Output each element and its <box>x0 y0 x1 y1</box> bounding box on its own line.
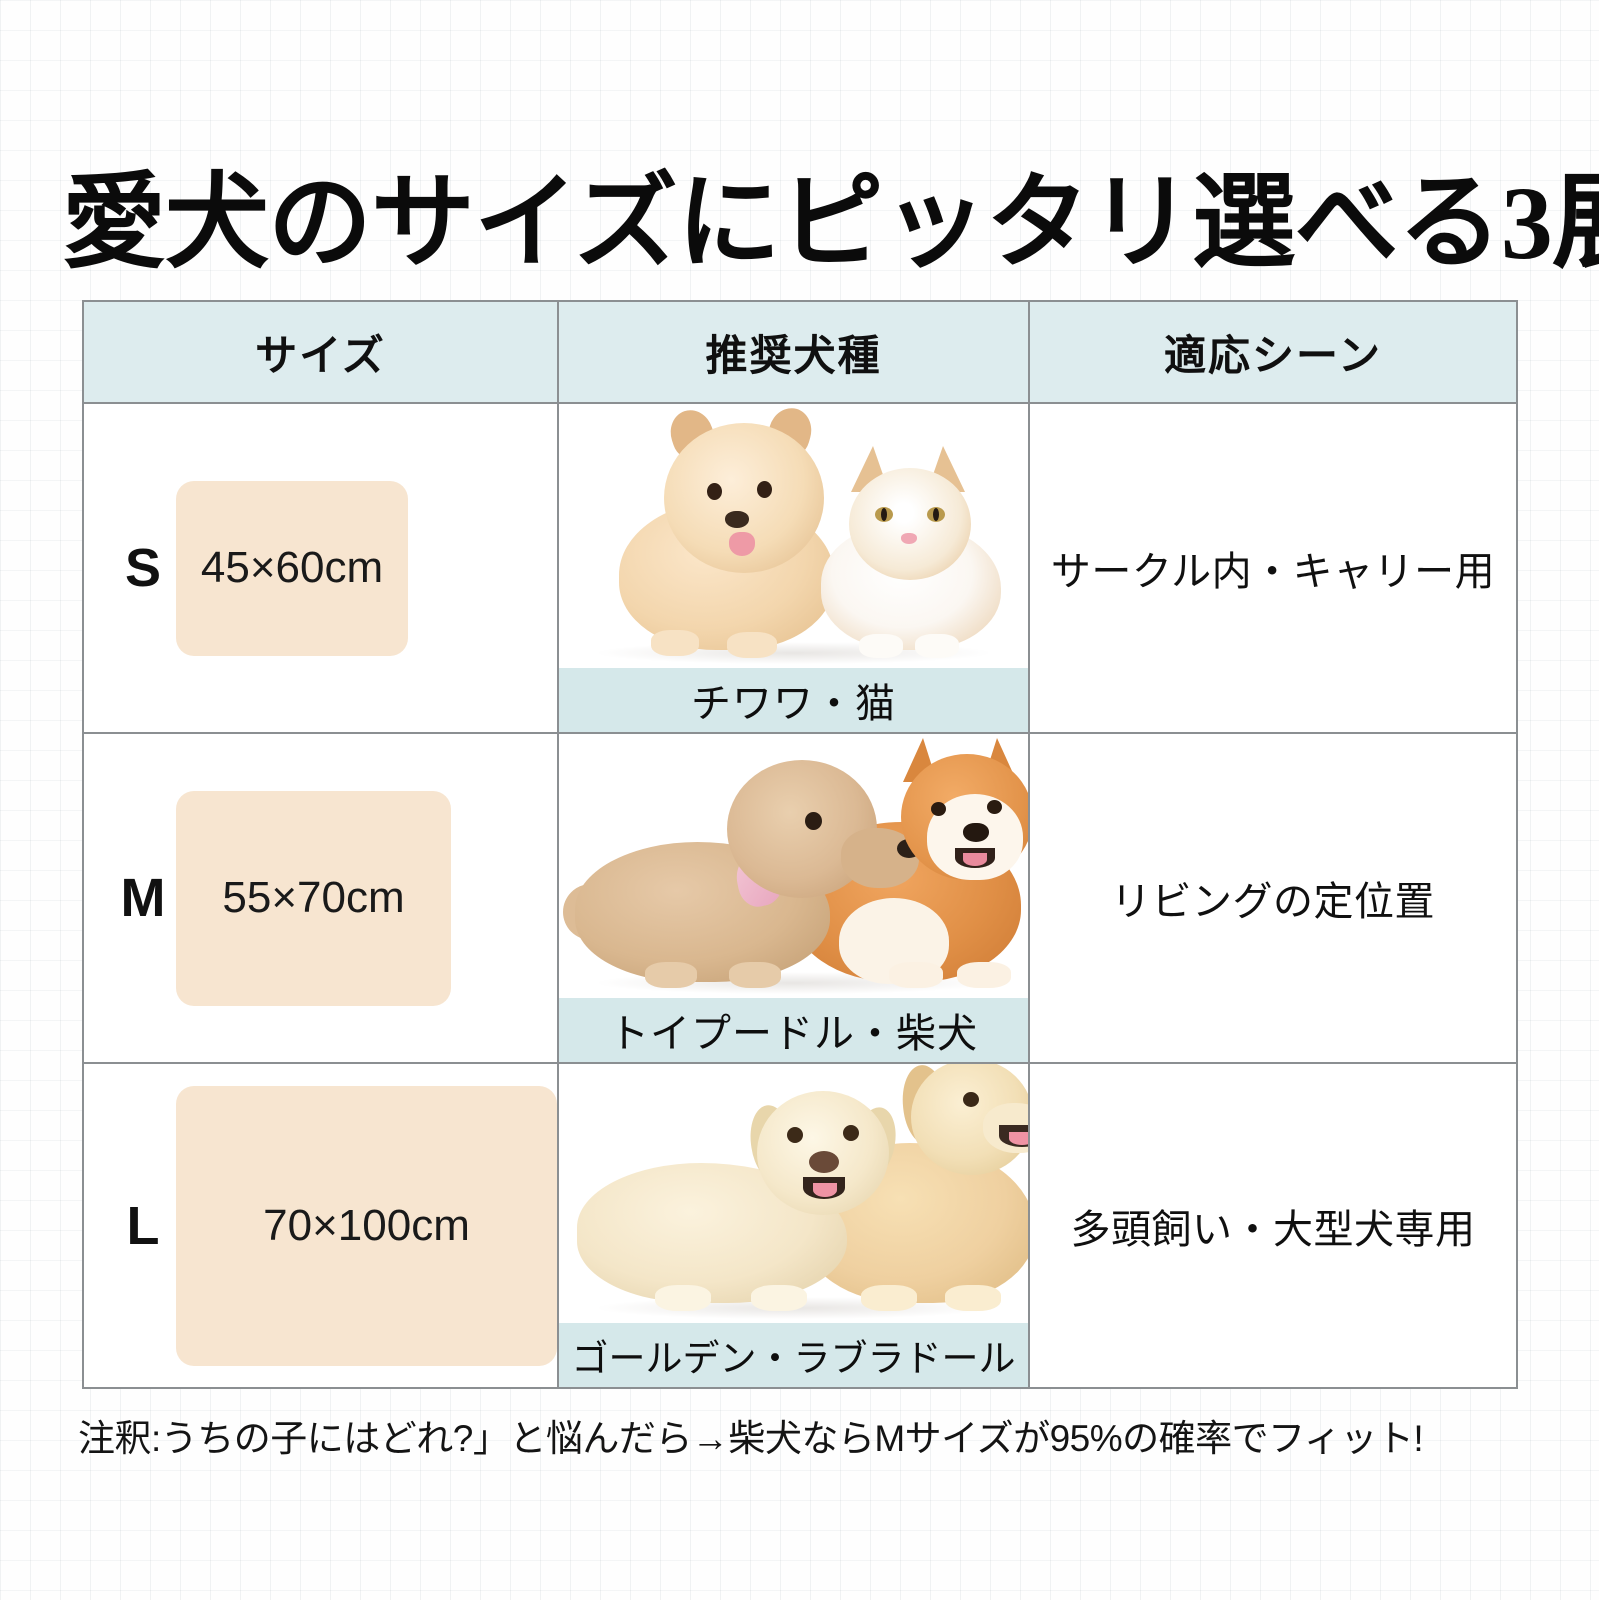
size-cell-l: L 70×100cm <box>84 1064 557 1387</box>
pomeranian-paw <box>651 630 699 656</box>
golden-retriever-paw <box>861 1285 917 1311</box>
size-cell-s: S 45×60cm <box>84 404 557 732</box>
size-cell-m: M 55×70cm <box>84 734 557 1062</box>
breed-caption-l: ゴールデン・ラブラドール <box>559 1323 1028 1387</box>
table-row: M 55×70cm <box>84 732 1516 1062</box>
poodle-eye <box>805 812 822 830</box>
golden-retriever-tongue <box>1009 1132 1028 1145</box>
pomeranian-eye <box>757 481 772 498</box>
labrador-and-golden-retriever-photo <box>559 1064 1028 1323</box>
scene-cell-l: 多頭飼い・大型犬専用 <box>1030 1064 1516 1387</box>
shiba-nose <box>963 823 989 842</box>
cat-pupil <box>933 508 939 521</box>
size-dimension-chip-l: 70×100cm <box>176 1086 557 1366</box>
column-header-breed: 推奨犬種 <box>557 302 1030 402</box>
shiba-paw <box>957 962 1011 988</box>
labrador-nose <box>809 1151 839 1173</box>
labrador-tongue <box>813 1183 837 1197</box>
poodle-paw <box>645 962 697 988</box>
cat-paw <box>915 634 959 658</box>
golden-retriever-eye <box>963 1092 979 1107</box>
pomeranian-nose <box>725 511 749 528</box>
toy-poodle-and-shiba-inu-photo <box>559 734 1028 998</box>
breed-caption-s: チワワ・猫 <box>559 668 1028 732</box>
table-row: S 45×60cm <box>84 402 1516 732</box>
column-header-size: サイズ <box>84 302 557 402</box>
cat-pupil <box>881 508 887 521</box>
cat-nose <box>901 533 917 544</box>
size-letter-s: S <box>110 537 176 599</box>
shiba-paw <box>889 962 943 988</box>
breed-cell-m: トイプードル・柴犬 <box>557 734 1030 1062</box>
scene-cell-m: リビングの定位置 <box>1030 734 1516 1062</box>
labrador-eye <box>843 1125 859 1141</box>
golden-retriever-paw <box>945 1285 1001 1311</box>
size-dimension-chip-s: 45×60cm <box>176 481 408 656</box>
size-letter-l: L <box>110 1195 176 1257</box>
footnote-text: 注釈:うちの子にはどれ?」と悩んだら→柴犬ならMサイズが95%の確率でフィット! <box>78 1408 1538 1462</box>
size-letter-m: M <box>110 867 176 929</box>
scene-cell-s: サークル内・キャリー用 <box>1030 404 1516 732</box>
poodle-paw <box>729 962 781 988</box>
labrador-paw <box>751 1285 807 1311</box>
labrador-paw <box>655 1285 711 1311</box>
shiba-eye <box>931 802 946 816</box>
breed-caption-m: トイプードル・柴犬 <box>559 998 1028 1062</box>
breed-cell-l: ゴールデン・ラブラドール <box>557 1064 1030 1387</box>
shiba-eye <box>987 800 1002 814</box>
size-comparison-table: サイズ 推奨犬種 適応シーン S 45×60cm <box>82 300 1518 1389</box>
shiba-tongue <box>963 853 987 866</box>
column-header-scene: 適応シーン <box>1030 302 1516 402</box>
cat-paw <box>859 634 903 658</box>
cat-head <box>849 468 971 580</box>
page-title: 愛犬のサイズにピッタリ選べる3展開 <box>62 158 1542 290</box>
labrador-eye <box>787 1127 803 1143</box>
size-dimension-chip-m: 55×70cm <box>176 791 451 1006</box>
pomeranian-and-cat-photo <box>559 404 1028 668</box>
pomeranian-paw <box>727 632 777 658</box>
breed-cell-s: チワワ・猫 <box>557 404 1030 732</box>
pomeranian-tongue <box>729 532 755 556</box>
table-header-row: サイズ 推奨犬種 適応シーン <box>84 302 1516 402</box>
table-row: L 70×100cm <box>84 1062 1516 1387</box>
page-root: 愛犬のサイズにピッタリ選べる3展開 サイズ 推奨犬種 適応シーン S 45×60… <box>0 0 1599 1600</box>
pomeranian-eye <box>707 483 722 500</box>
